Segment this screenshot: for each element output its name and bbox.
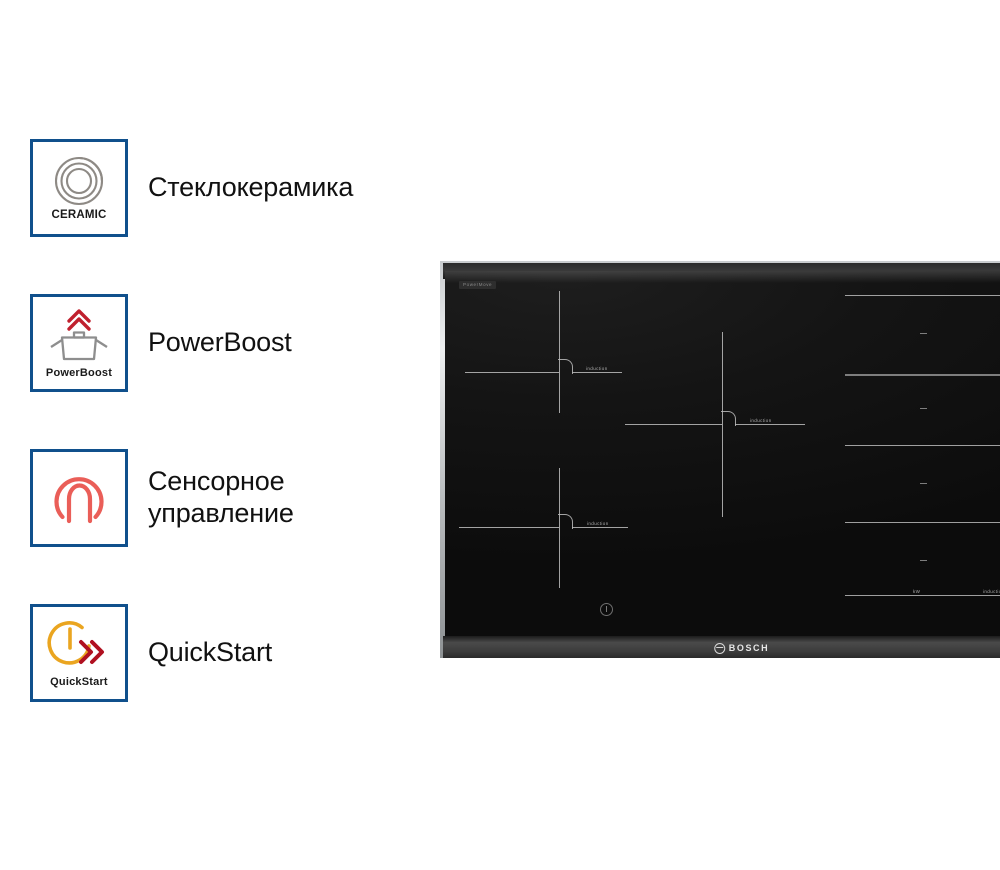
panel-rule (845, 374, 1000, 376)
feature-label: Сенсорное управление (148, 466, 294, 529)
power-button[interactable] (600, 603, 613, 616)
panel-rule (845, 522, 1000, 523)
panel-label-kw: kW (913, 590, 920, 595)
quick-start-icon (44, 618, 114, 674)
panel-dash (920, 408, 927, 409)
zone-label: induction (750, 419, 772, 424)
bosch-wordmark: BOSCH (729, 644, 770, 653)
feature-label: QuickStart (148, 637, 272, 669)
feature-badge-quickstart: QuickStart (30, 604, 128, 702)
zone-label: induction (587, 522, 609, 527)
cooking-zone-rear-left[interactable]: induction (445, 451, 705, 611)
bosch-glyph-icon (714, 643, 725, 654)
feature-label: PowerBoost (148, 327, 292, 359)
feature-row: Сенсорное управление (30, 448, 430, 548)
feature-row: PowerBoost PowerBoost (30, 293, 430, 393)
bosch-logo: BOSCH (714, 643, 770, 654)
feature-list: CERAMIC Стеклокерамика (30, 138, 430, 703)
badge-caption: CERAMIC (51, 210, 106, 222)
feature-badge-powerboost: PowerBoost (30, 294, 128, 392)
badge-caption: PowerBoost (46, 368, 112, 379)
feature-badge-ceramic: CERAMIC (30, 139, 128, 237)
panel-label-induction: induction (983, 590, 1000, 595)
induction-cooktop-image: PowerMove BOSCH Serie 8 induction induct… (440, 261, 1000, 658)
panel-rule (845, 445, 1000, 446)
cooktop-glass-surface: PowerMove BOSCH Serie 8 induction induct… (445, 271, 1000, 638)
feature-row: CERAMIC Стеклокерамика (30, 138, 430, 238)
ceramic-icon (50, 155, 108, 207)
power-boost-pot-icon (43, 307, 115, 365)
panel-dash (920, 333, 927, 334)
panel-dash (920, 560, 927, 561)
panel-rule (845, 595, 1000, 596)
feature-label: Стеклокерамика (148, 172, 353, 204)
cooktop-frame-bottom: BOSCH (443, 636, 1000, 658)
touch-control-icon (45, 463, 113, 531)
feature-row: QuickStart QuickStart (30, 603, 430, 703)
panel-dash (920, 483, 927, 484)
badge-caption: QuickStart (50, 677, 108, 688)
panel-rule (845, 295, 1000, 296)
feature-badge-touch-control (30, 449, 128, 547)
